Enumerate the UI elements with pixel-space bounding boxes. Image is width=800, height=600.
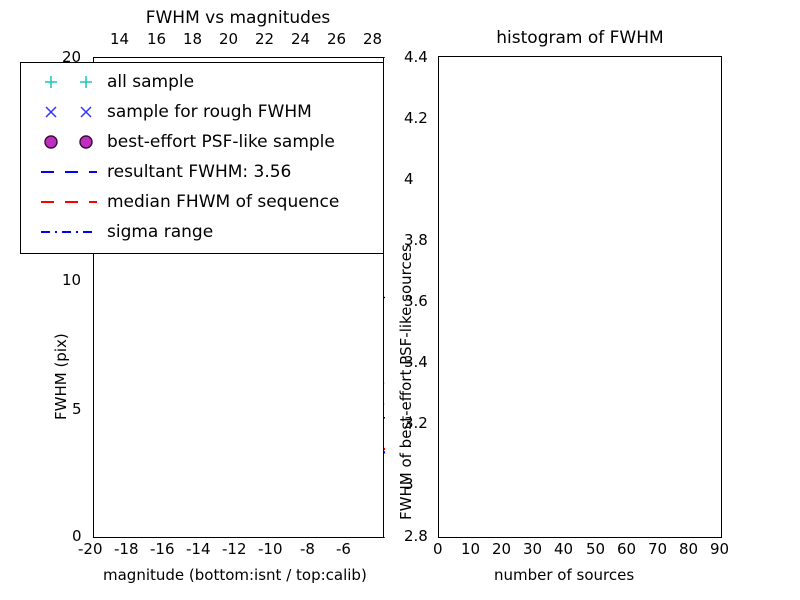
y-tick-label: 5 — [72, 400, 82, 418]
x-tick-label: 90 — [710, 540, 729, 558]
top-tick-label: 20 — [219, 30, 238, 48]
x-tick-label: 80 — [679, 540, 698, 558]
legend-label: all sample — [107, 72, 194, 92]
dashed-line-icon — [39, 197, 99, 207]
y-tick-label: 4.4 — [404, 48, 428, 66]
legend-item-resultant-fwhm: resultant FWHM: 3.56 — [21, 157, 383, 187]
top-tick-label: 18 — [183, 30, 202, 48]
x-tick-label: 10 — [461, 540, 480, 558]
scatter-y-axis-label: FWHM (pix) — [52, 333, 70, 420]
x-tick-label: 0 — [433, 540, 443, 558]
circle-icon — [43, 134, 59, 150]
top-tick-label: 26 — [327, 30, 346, 48]
y-tick-label: 10 — [62, 271, 81, 289]
dashed-line-icon — [39, 167, 99, 177]
legend-item-rough-fwhm: sample for rough FWHM — [21, 97, 383, 127]
histogram-x-axis-label: number of sources — [494, 566, 634, 584]
legend-label: resultant FWHM: 3.56 — [107, 162, 291, 182]
x-tick-label: 50 — [586, 540, 605, 558]
x-tick-label: -12 — [222, 540, 247, 558]
legend-item-median-fwhm: median FHWM of sequence — [21, 187, 383, 217]
histogram-title: histogram of FWHM — [438, 28, 722, 48]
x-tick-label: -8 — [300, 540, 315, 558]
x-tick-label: 20 — [492, 540, 511, 558]
y-tick-label: 2.8 — [404, 527, 428, 545]
x-tick-label: 70 — [648, 540, 667, 558]
legend-label: median FHWM of sequence — [107, 192, 339, 212]
histogram-frame — [438, 56, 722, 538]
cross-icon — [78, 104, 94, 120]
legend-label: best-effort PSF-like sample — [107, 132, 335, 152]
legend-item-sigma-range: sigma range — [21, 217, 383, 247]
legend: all sample sample for rough FWHM best-ef… — [20, 62, 384, 254]
y-tick-label: 3.6 — [404, 292, 428, 310]
x-tick-label: -10 — [258, 540, 283, 558]
x-tick-label: -20 — [78, 540, 103, 558]
legend-label: sample for rough FWHM — [107, 102, 312, 122]
plus-icon — [78, 74, 94, 90]
top-tick-label: 14 — [110, 30, 129, 48]
x-tick-label: -16 — [150, 540, 175, 558]
x-tick-label: 30 — [523, 540, 542, 558]
cross-icon — [43, 104, 59, 120]
y-tick-label: 3 — [404, 475, 414, 493]
y-tick-label: 3.2 — [404, 414, 428, 432]
legend-label: sigma range — [107, 222, 213, 242]
top-tick-label: 16 — [147, 30, 166, 48]
legend-item-all-sample: all sample — [21, 67, 383, 97]
x-tick-label: 60 — [617, 540, 636, 558]
top-tick-label: 24 — [291, 30, 310, 48]
top-tick-label: 28 — [363, 30, 382, 48]
plus-icon — [43, 74, 59, 90]
scatter-title: FWHM vs magnitudes — [93, 8, 383, 28]
dashdot-line-icon — [39, 227, 99, 237]
circle-icon — [78, 134, 94, 150]
scatter-x-axis-label: magnitude (bottom:isnt / top:calib) — [103, 566, 367, 584]
top-tick-label: 22 — [255, 30, 274, 48]
y-tick-label: 4 — [404, 170, 414, 188]
y-tick-label: 4.2 — [404, 109, 428, 127]
x-tick-label: 40 — [554, 540, 573, 558]
x-tick-label: -14 — [186, 540, 211, 558]
x-tick-label: -18 — [114, 540, 139, 558]
x-tick-label: -6 — [336, 540, 351, 558]
y-tick-label: 3.8 — [404, 231, 428, 249]
legend-item-psf-sample: best-effort PSF-like sample — [21, 127, 383, 157]
y-tick-label: 3.4 — [404, 353, 428, 371]
